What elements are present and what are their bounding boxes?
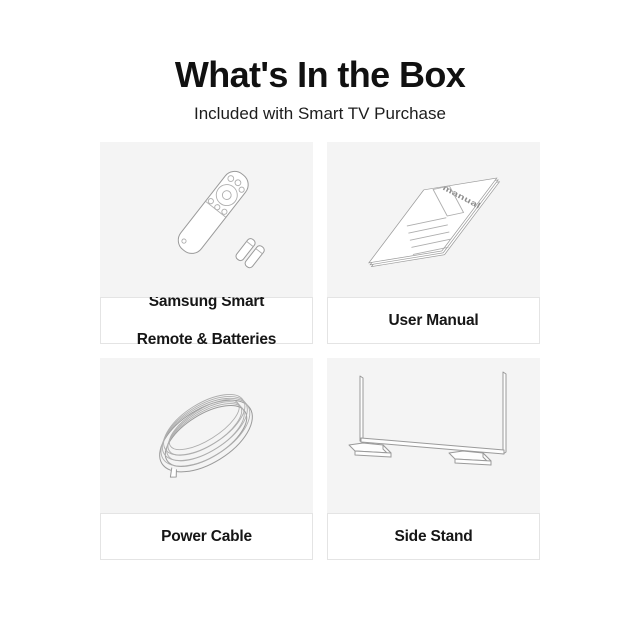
box-contents-grid: Samsung Smart Remote & Batteries xyxy=(100,142,540,560)
page-subtitle: Included with Smart TV Purchase xyxy=(0,102,640,126)
page-header: What's In the Box Included with Smart TV… xyxy=(0,0,640,126)
whats-in-the-box-page: What's In the Box Included with Smart TV… xyxy=(0,0,640,640)
power-cable-card-label: Power Cable xyxy=(100,513,313,560)
coiled-power-cable-icon xyxy=(100,358,313,513)
tv-side-stand-icon xyxy=(327,358,540,513)
tv-remote-with-batteries-icon xyxy=(100,142,313,297)
box-item-card-remote[interactable]: Samsung Smart Remote & Batteries xyxy=(100,142,313,344)
remote-label-line-2: Remote & Batteries xyxy=(137,330,276,349)
power-cable-label-text: Power Cable xyxy=(161,527,252,546)
side-stand-figure-panel xyxy=(327,358,540,513)
user-manual-booklet-icon: manual xyxy=(327,142,540,297)
side-stand-card-label: Side Stand xyxy=(327,513,540,560)
power-cable-figure-panel xyxy=(100,358,313,513)
side-stand-label-text: Side Stand xyxy=(394,527,472,546)
box-item-card-manual[interactable]: manual User Manual xyxy=(327,142,540,344)
manual-figure-panel: manual xyxy=(327,142,540,297)
manual-card-label: User Manual xyxy=(327,297,540,344)
box-item-card-side-stand[interactable]: Side Stand xyxy=(327,358,540,560)
box-item-card-power-cable[interactable]: Power Cable xyxy=(100,358,313,560)
remote-figure-panel xyxy=(100,142,313,297)
manual-label-text: User Manual xyxy=(389,311,479,330)
page-title: What's In the Box xyxy=(0,54,640,96)
remote-card-label: Samsung Smart Remote & Batteries xyxy=(100,297,313,344)
